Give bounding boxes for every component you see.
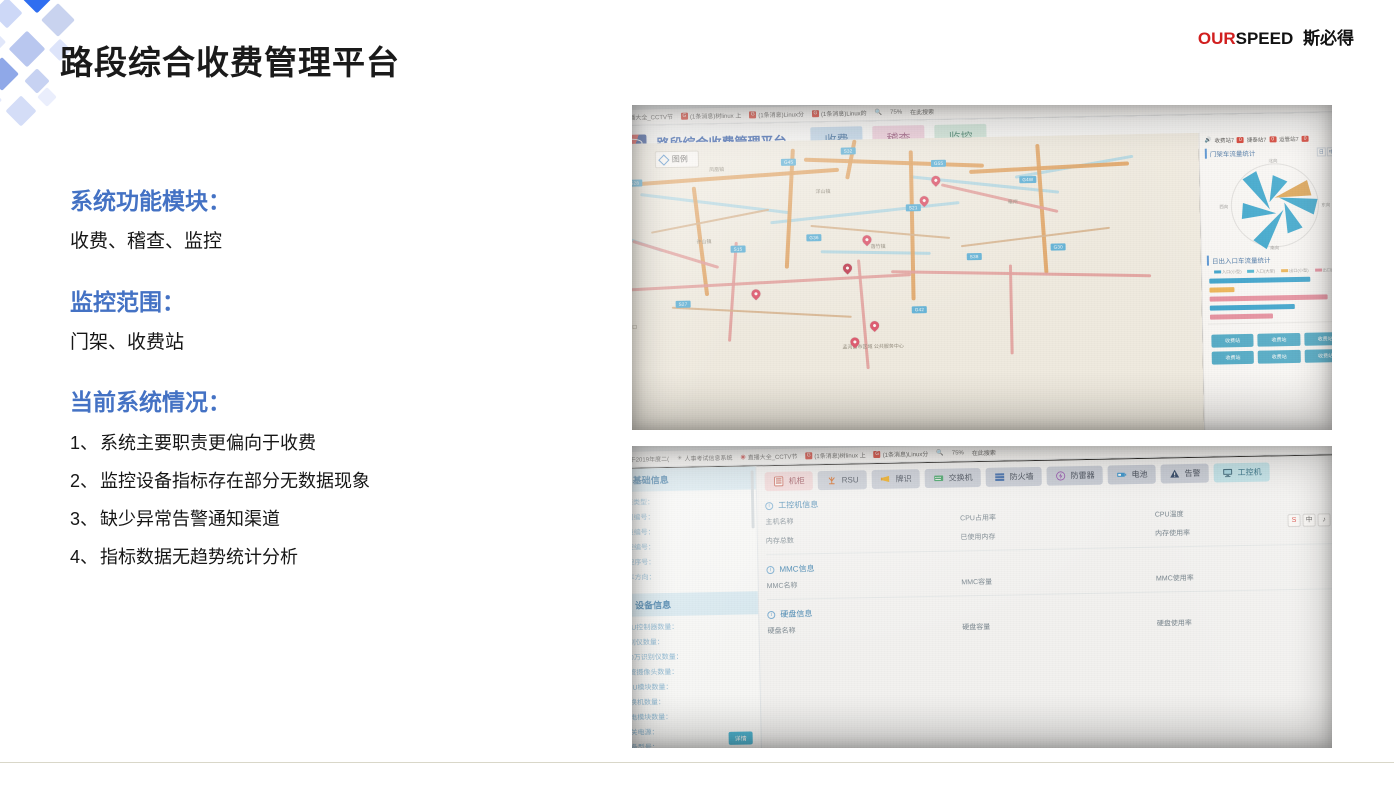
device-tab-firewall[interactable]: 防火墙 <box>985 467 1041 487</box>
chart-title-gantry-flow: 门架车流量统计 日 中 夜 <box>1205 145 1332 158</box>
alert-label: 捷泰站7 <box>1247 135 1267 143</box>
list-item: 1、系统主要职责更偏向于收费 <box>70 429 570 455</box>
search-hint[interactable]: 在此搜索 <box>972 448 996 457</box>
bookmark-item[interactable]: G(1条消息)Linux分 <box>749 109 804 119</box>
bookmark-item[interactable]: G(1条消息)树linux 上 <box>805 450 866 460</box>
bookmark-item[interactable]: ◉直播大全_CCTV节 <box>632 111 673 121</box>
alert-count: 0 <box>1302 135 1309 141</box>
period-segment-control[interactable]: 日 中 夜 <box>1317 146 1332 156</box>
monitor-icon <box>1221 467 1233 478</box>
switch-icon <box>932 473 944 484</box>
list-item-text: 监控设备指标存在部分无数据现象 <box>100 471 370 491</box>
section-function-modules: 系统功能模块： 收费、稽查、监控 <box>70 182 570 257</box>
brand-logo: OURSPEED 斯必得 <box>1198 24 1354 49</box>
info-icon: i <box>765 501 773 509</box>
ime-moon-icon[interactable]: ♪ <box>1317 513 1330 526</box>
alert-count: 0 <box>1237 136 1244 142</box>
bookmark-item[interactable]: G(1条消息)Linux的 <box>812 108 867 118</box>
sidebar-group-device-info[interactable]: 设备信息 <box>632 591 758 617</box>
map-place-label: 金江口 <box>632 323 637 330</box>
device-tab-lightning-arrester[interactable]: 防雷器 <box>1046 466 1102 486</box>
road-shield: S27 <box>676 300 691 307</box>
panel-title-text: 工控机信息 <box>778 499 818 511</box>
section-body: 收费、稽查、监控 <box>70 228 570 257</box>
segment-mid[interactable]: 中 <box>1327 146 1332 155</box>
list-item: 3、缺少异常告警通知渠道 <box>70 505 570 531</box>
field-label: 供电模块数量： <box>632 710 750 722</box>
ime-logo-icon[interactable]: S <box>1287 514 1300 527</box>
ime-language-bar[interactable]: S 中 ♪ ♥ <box>1287 513 1332 527</box>
panel-divider <box>766 543 1332 555</box>
panel-industrial-pc-info: i 工控机信息 主机名称 CPU占用率 CPU温度 内存总数 已使用内存 内存使… <box>765 489 1332 555</box>
road-shield: S21 <box>906 204 921 211</box>
map-canvas[interactable]: S28 G45 S32 G55 S21 G4W S15 G36 S38 G30 … <box>632 132 1204 430</box>
list-item: 4、指标数据无趋势统计分析 <box>70 543 570 569</box>
field-label: 内存使用率 <box>1155 525 1332 539</box>
search-hint[interactable]: 在此搜索 <box>910 106 934 115</box>
panel-title-text: 硬盘信息 <box>780 608 812 620</box>
list-item-number: 4、 <box>70 547 98 567</box>
legend-entry: 入口(小型) <box>1222 269 1242 274</box>
field-label: 900万识别仪数量： <box>632 650 749 662</box>
list-item-text: 系统主要职责更偏向于收费 <box>100 433 316 453</box>
battery-icon <box>1115 469 1127 480</box>
list-item-text: 缺少异常告警通知渠道 <box>100 509 280 529</box>
device-tab-switch[interactable]: 交换机 <box>924 468 980 488</box>
analytics-rail: 🔊 收费站7 0 捷泰站7 0 运管站7 0 门架车流量统计 日 中 夜 <box>1198 129 1332 430</box>
road-shield: G45 <box>781 158 796 165</box>
detail-sidebar: 基础信息 机柜类型： 路网编号： 路段编号： 门架编号： 门架序号： 行车方向： <box>632 466 762 748</box>
speaker-icon: 🔊 <box>1205 137 1212 143</box>
road-shield: S32 <box>841 147 856 154</box>
gantry-detail-body: 基础信息 机柜类型： 路网编号： 路段编号： 门架编号： 门架序号： 行车方向： <box>632 455 1332 748</box>
chart-tick-label: 北向 <box>1268 158 1277 164</box>
board-detail-button[interactable]: 详情 <box>729 732 753 745</box>
bookmark-item[interactable]: G(1条消息)树linux 上 <box>681 110 742 120</box>
field-label: 已使用内存 <box>960 529 1149 543</box>
device-tab-bar[interactable]: 机柜 RSU 牌识 交 <box>765 461 1332 491</box>
omnibox-suggestion: ☀人事考试信息系统 <box>677 453 733 463</box>
section-monitor-scope: 监控范围： 门架、收费站 <box>70 283 570 358</box>
screenshot-map-dashboard: ☀关于2019年度二( ☀人事考试信息系统 ■ETC门架系统监控 ◉数据监测 + <box>632 105 1332 430</box>
cabinet-icon <box>773 476 785 487</box>
field-label: MMC容量 <box>961 574 1150 588</box>
road-shield: G36 <box>806 234 821 241</box>
road-shield: G55 <box>931 159 946 166</box>
field-label: 路段编号： <box>632 525 747 537</box>
footer-divider <box>0 762 1394 763</box>
gantry-flow-rose-chart: 北向 东向 南向 西向 <box>1216 158 1332 252</box>
issue-list: 1、系统主要职责更偏向于收费 2、监控设备指标存在部分无数据现象 3、缺少异常告… <box>70 429 570 569</box>
page-title: 路段综合收费管理平台 <box>60 36 400 84</box>
field-label: 机柜类型： <box>632 495 746 507</box>
legend-entry: 出口(小型) <box>1289 267 1309 272</box>
brand-speed: SPEED <box>1236 29 1294 48</box>
device-tab-rsu[interactable]: RSU <box>818 470 867 490</box>
panel-disk-info: i 硬盘信息 硬盘名称 硬盘容量 硬盘使用率 <box>767 598 1332 636</box>
chart-tick-label: 东向 <box>1321 202 1330 208</box>
map-legend-button[interactable]: 图例 <box>655 150 699 168</box>
detail-main: 机柜 RSU 牌识 交 <box>756 455 1332 748</box>
sidebar-group-basic-info[interactable]: 基础信息 <box>632 466 756 492</box>
field-label: 硬盘容量 <box>962 619 1151 633</box>
panel-title-text: MMC信息 <box>779 563 814 575</box>
map-legend-label: 图例 <box>672 153 688 164</box>
omnibox-suggestion: ☀人事考试信息系统 <box>632 446 671 447</box>
toll-station-tile-grid[interactable]: 收费站 收费站 收费站 收费站 收费站 收费站 <box>1208 325 1332 364</box>
list-item-number: 3、 <box>70 509 98 529</box>
slide-root: 路段综合收费管理平台 OURSPEED 斯必得 系统功能模块： 收费、稽查、监控… <box>0 0 1394 785</box>
search-icon[interactable]: 🔍 <box>936 450 944 457</box>
brand-cn: 斯必得 <box>1303 29 1354 48</box>
search-icon[interactable]: 🔍 <box>875 108 883 115</box>
plate-icon <box>880 474 892 485</box>
omnibox-suggestion: ☀关于2019年度二( <box>632 454 669 464</box>
device-info-field-list: RSU控制器数量： 识别仪数量： 900万识别仪数量： 运管摄像头数量： CPU… <box>632 614 761 748</box>
lightning-icon <box>1054 470 1066 481</box>
bar <box>1209 276 1310 283</box>
list-item: 2、监控设备指标存在部分无数据现象 <box>70 467 570 493</box>
field-label: 交换机数量： <box>632 695 750 707</box>
warning-icon <box>1168 468 1180 479</box>
field-label: MMC使用率 <box>1156 570 1332 584</box>
device-tab-industrial-pc[interactable]: 工控机 <box>1213 462 1269 482</box>
alert-label: 收费站7 <box>1214 136 1234 144</box>
bar <box>1210 304 1295 311</box>
bookmark-item[interactable]: G(1条消息)Linux分 <box>874 449 929 459</box>
panel-mmc-info: i MMC信息 MMC名称 MMC容量 MMC使用率 <box>766 553 1332 600</box>
field-label: 门架序号： <box>632 555 747 567</box>
road-shield: S38 <box>967 253 982 260</box>
field-label: RSU控制器数量： <box>632 620 749 632</box>
section-body: 门架、收费站 <box>70 329 570 358</box>
screenshot-gantry-detail: ☀人事考试信息系统 /monitor/gantrydetail.jsp?toll… <box>632 446 1332 748</box>
section-heading: 当前系统情况： <box>70 383 570 417</box>
map-place-label: 洋山镇 <box>815 187 830 194</box>
section-heading: 系统功能模块： <box>70 182 570 216</box>
map-place-label: 落竹镇 <box>871 242 886 249</box>
road-shield: G4W <box>1019 175 1036 182</box>
basic-info-field-list: 机柜类型： 路网编号： 路段编号： 门架编号： 门架序号： 行车方向： <box>632 489 758 594</box>
field-label: CPU模块数量： <box>632 680 750 692</box>
content-column: 系统功能模块： 收费、稽查、监控 监控范围： 门架、收费站 当前系统情况： 1、… <box>70 182 570 589</box>
field-label: 运管摄像头数量： <box>632 665 749 677</box>
device-tab-plate-recognition[interactable]: 牌识 <box>871 469 919 489</box>
road-shield: G42 <box>912 306 927 313</box>
alert-row: 🔊 收费站7 0 捷泰站7 0 运管站7 0 <box>1205 133 1332 144</box>
brand-our: OUR <box>1198 29 1236 48</box>
section-heading: 监控范围： <box>70 283 570 317</box>
toll-station-tile[interactable]: 收费站 <box>1211 333 1254 347</box>
road-shield: G30 <box>1051 243 1066 250</box>
field-label: CPU占用率 <box>960 510 1149 524</box>
toll-station-tile[interactable]: 收费站 <box>1304 332 1332 346</box>
legend-diamond-icon <box>658 153 669 164</box>
map-place-label: 凤凰镇 <box>709 165 724 172</box>
legend-entry: 入口(大型) <box>1256 268 1276 273</box>
bar <box>1210 313 1273 319</box>
list-item-number: 1、 <box>70 433 98 453</box>
field-label: 硬盘使用率 <box>1157 615 1332 629</box>
list-item-text: 指标数据无趋势统计分析 <box>100 547 298 567</box>
field-label: 主机名称 <box>765 513 954 527</box>
rail-divider <box>1208 320 1332 324</box>
bar <box>1210 294 1328 301</box>
field-label: MMC名称 <box>767 577 956 591</box>
field-label: 行车方向： <box>632 570 748 582</box>
section-current-status: 当前系统情况： 1、系统主要职责更偏向于收费 2、监控设备指标存在部分无数据现象… <box>70 383 570 569</box>
list-item-number: 2、 <box>70 471 98 491</box>
map-place-label: 许山镇 <box>696 238 711 245</box>
field-label: 门架编号： <box>632 540 747 552</box>
toll-station-tile[interactable]: 收费站 <box>1212 350 1255 364</box>
ime-chinese-toggle[interactable]: 中 <box>1302 513 1315 526</box>
road-shield: S15 <box>731 245 746 252</box>
alert-count: 0 <box>1269 136 1276 142</box>
zoom-level: 75% <box>952 450 964 456</box>
chart-tick-label: 南向 <box>1270 245 1279 251</box>
toll-station-tile[interactable]: 收费站 <box>1258 349 1301 363</box>
map-pin[interactable] <box>750 287 763 300</box>
map-viewport[interactable]: S28 G45 S32 G55 S21 G4W S15 G36 S38 G30 … <box>632 132 1204 430</box>
segment-day[interactable]: 日 <box>1317 146 1326 155</box>
map-pin[interactable] <box>841 261 854 274</box>
device-tab-alarm[interactable]: 告警 <box>1160 464 1208 484</box>
entry-exit-bar-chart: 入口(小型) 入口(大型) 出口(小型) 出口(大型) <box>1207 264 1332 319</box>
chart-title-entry-exit-flow: 日出入口车流量统计 <box>1207 252 1332 265</box>
map-pin[interactable] <box>868 319 881 332</box>
alert-label: 运管站7 <box>1279 134 1299 142</box>
field-grid: 主机名称 CPU占用率 CPU温度 内存总数 已使用内存 内存使用率 <box>765 506 1332 546</box>
field-label: 内存总数 <box>766 532 955 546</box>
info-icon: i <box>766 565 774 573</box>
map-place-label: 亳州 <box>1008 198 1018 205</box>
sidebar-group-title: 设备信息 <box>635 598 671 612</box>
field-label: 识别仪数量： <box>632 635 749 647</box>
field-label: 路网编号： <box>632 510 746 522</box>
info-icon: i <box>767 610 775 618</box>
bookmark-item[interactable]: ◉直播大全_CCTV节 <box>740 451 797 461</box>
bar <box>1209 287 1234 292</box>
legend-entry: 出口(大型) <box>1323 267 1332 272</box>
firewall-icon <box>993 471 1005 482</box>
device-tab-cabinet[interactable]: 机柜 <box>765 471 813 491</box>
road-shield: S28 <box>632 179 642 186</box>
toll-station-tile[interactable]: 收费站 <box>1258 332 1301 346</box>
zoom-level: 75% <box>890 109 902 115</box>
toll-station-tile[interactable]: 收费站 <box>1304 349 1332 363</box>
chart-legend: 入口(小型) 入口(大型) 出口(小型) 出口(大型) <box>1209 267 1332 276</box>
rsu-icon <box>826 475 838 486</box>
field-label: 硬盘名称 <box>768 622 957 636</box>
panel-divider <box>767 588 1332 600</box>
sidebar-group-title: 基础信息 <box>633 473 669 487</box>
device-tab-battery[interactable]: 电池 <box>1107 465 1155 485</box>
chart-tick-label: 西向 <box>1219 204 1228 210</box>
